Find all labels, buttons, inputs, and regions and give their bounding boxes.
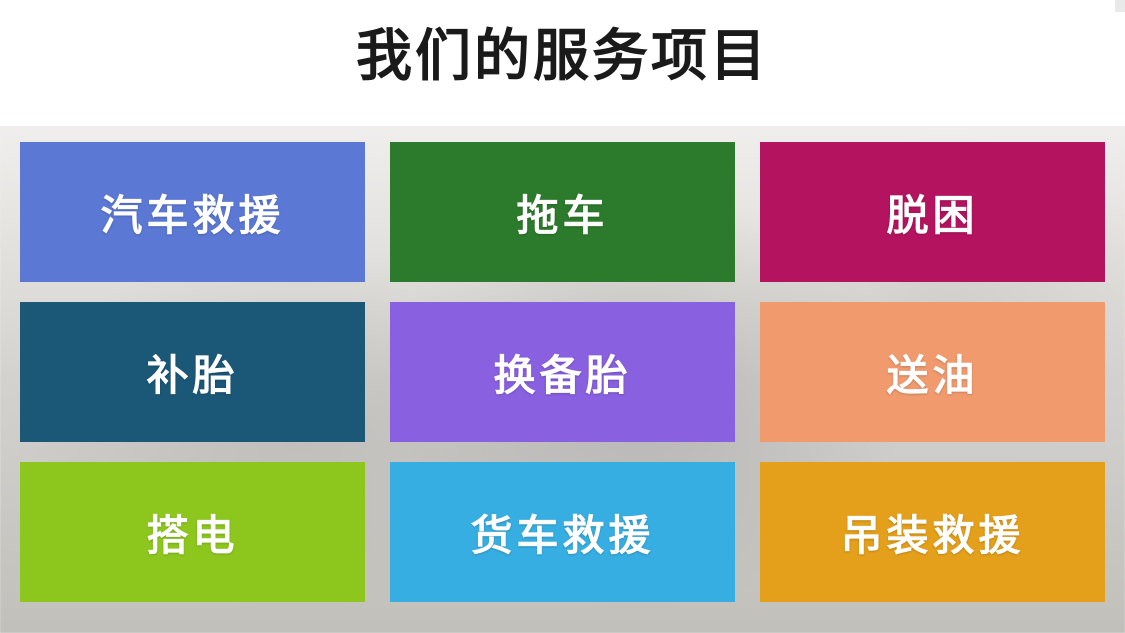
service-tile-extrication[interactable]: 脱困 — [760, 142, 1105, 282]
service-tile-spare-tire[interactable]: 换备胎 — [390, 302, 735, 442]
service-grid: 汽车救援 拖车 脱困 补胎 换备胎 送油 搭电 货车救援 吊装救援 — [20, 142, 1105, 602]
service-tile-car-rescue[interactable]: 汽车救援 — [20, 142, 365, 282]
service-tile-truck-rescue[interactable]: 货车救援 — [390, 462, 735, 602]
service-tile-tire-repair[interactable]: 补胎 — [20, 302, 365, 442]
service-tile-towing[interactable]: 拖车 — [390, 142, 735, 282]
page-title: 我们的服务项目 — [0, 20, 1125, 94]
service-tile-jump-start[interactable]: 搭电 — [20, 462, 365, 602]
service-tile-fuel-delivery[interactable]: 送油 — [760, 302, 1105, 442]
service-tile-crane-rescue[interactable]: 吊装救援 — [760, 462, 1105, 602]
background-corner-strip — [1115, 0, 1125, 12]
service-poster: 我们的服务项目 汽车救援 拖车 脱困 补胎 换备胎 送油 搭电 货车救援 吊装救… — [0, 0, 1125, 633]
